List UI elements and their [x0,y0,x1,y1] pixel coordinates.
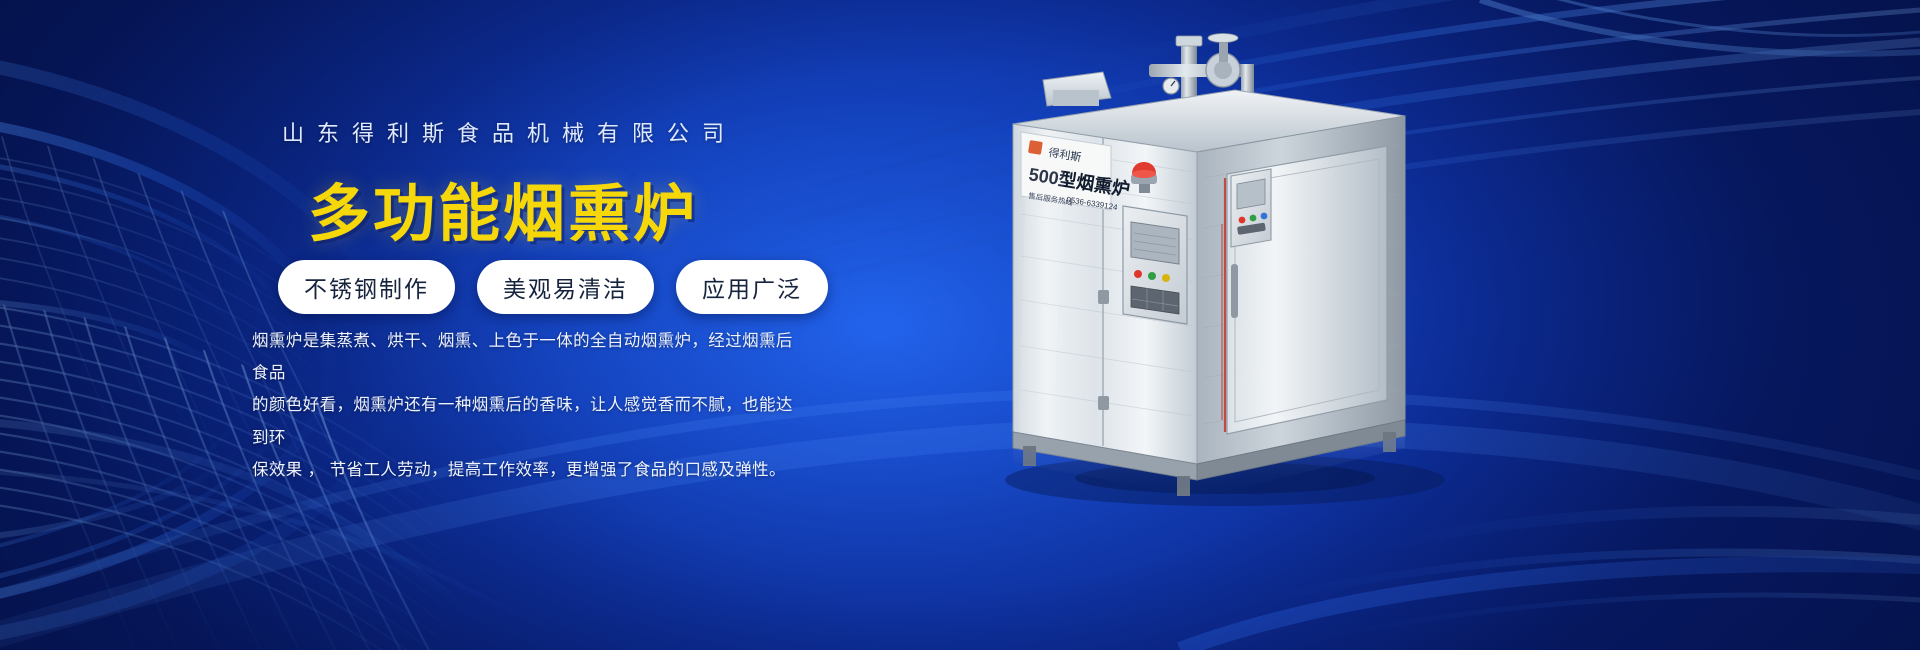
feature-pill-list: 不锈钢制作 美观易清洁 应用广泛 [278,260,828,314]
feature-pill-easy-clean[interactable]: 美观易清洁 [477,260,654,314]
description-line-3: 保效果 ， 节省工人劳动，提高工作效率，更增强了食品的口感及弹性。 [252,454,808,486]
smokehouse-oven-photo: 得利斯 500型烟熏炉 售后服务热线 0536-6339124 [935,28,1495,528]
description-paragraph: 烟熏炉是集蒸煮、烘干、烟熏、上色于一体的全自动烟熏炉，经过烟熏后食品 的颜色好看… [252,325,808,486]
company-name: 山东得利斯食品机械有限公司 [282,116,737,148]
page-title: 多功能烟熏炉 [308,163,698,253]
control-box-secondary [1231,169,1271,247]
banner-text-column: 山东得利斯食品机械有限公司 多功能烟熏炉 不锈钢制作 美观易清洁 应用广泛 烟熏… [0,0,860,650]
description-line-2: 的颜色好看，烟熏炉还有一种烟熏后的香味，让人感觉香而不腻，也能达到环 [252,389,808,453]
description-line-1: 烟熏炉是集蒸煮、烘干、烟熏、上色于一体的全自动烟熏炉，经过烟熏后食品 [252,325,808,389]
promo-banner: 得利斯 500型烟熏炉 售后服务热线 0536-6339124 [0,0,1920,650]
control-panel-main [1123,206,1187,324]
feature-pill-stainless[interactable]: 不锈钢制作 [278,260,455,314]
feature-pill-wide-use[interactable]: 应用广泛 [676,260,828,314]
